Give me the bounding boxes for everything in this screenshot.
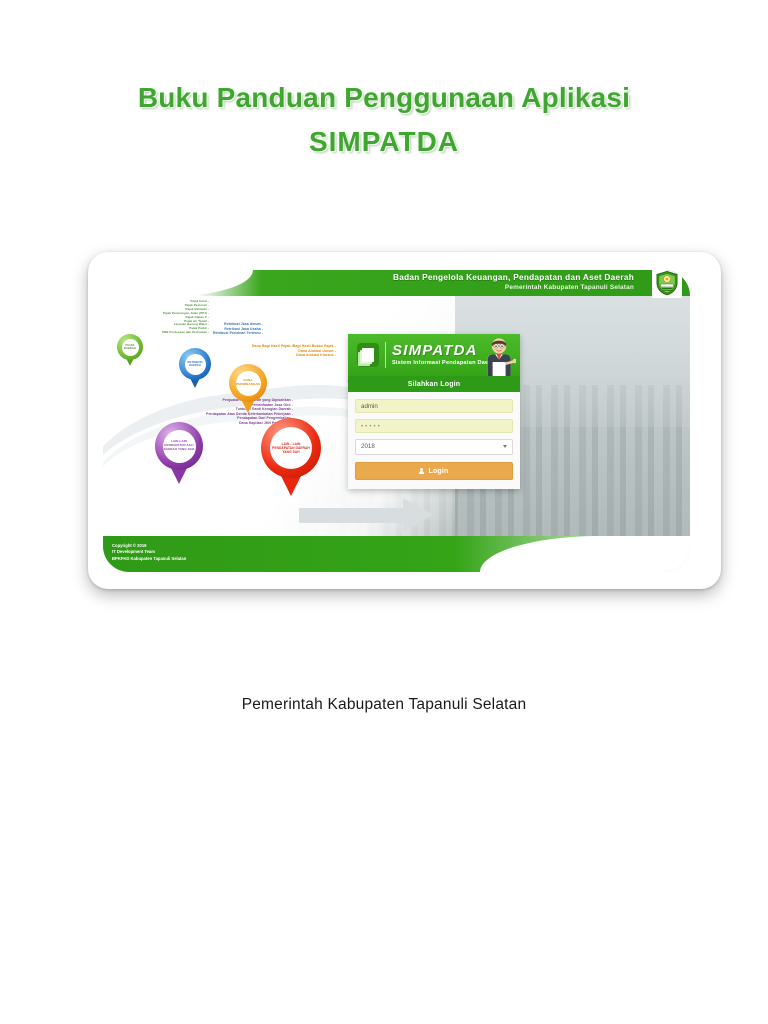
app-header-bar: Badan Pengelola Keuangan, Pendapatan dan… <box>103 270 690 296</box>
map-pin-pajak-daerah: PAJAK DAERAH <box>117 334 143 360</box>
cover-caption: Pemerintah Kabupaten Tapanuli Selatan <box>0 696 768 714</box>
document-pen-icon <box>357 343 379 367</box>
arrow-icon <box>299 502 449 528</box>
map-pin-dana-perimbangan: DANA PERIMBANGAN <box>229 364 267 402</box>
cover-page: Buku Panduan Penggunaan Aplikasi SIMPATD… <box>0 0 768 1024</box>
title-line-2: SIMPATDA <box>0 120 768 164</box>
user-icon <box>419 468 424 475</box>
tapanuli-selatan-crest-icon <box>652 270 682 298</box>
login-button-label: Login <box>428 468 448 475</box>
username-input[interactable] <box>355 399 513 413</box>
map-pin-lain-lain-pad: LAIN-LAIN PENDAPATAN ASLI DAERAH YANG SA… <box>155 422 203 470</box>
chevron-down-icon <box>503 445 507 448</box>
map-pin-retribusi-daerah: RETRIBUSI DAERAH <box>179 348 211 380</box>
app-footer-bar: Copyright © 2019 IT Development Team BPK… <box>103 536 690 572</box>
password-input[interactable] <box>355 419 513 433</box>
app-screenshot: Badan Pengelola Keuangan, Pendapatan dan… <box>103 270 690 572</box>
map-pin-label: LAIN-LAIN PENDAPATAN ASLI DAERAH YANG SA… <box>163 430 196 463</box>
title-line-1: Buku Panduan Penggunaan Aplikasi <box>138 82 630 113</box>
footer-org: BPKPAD Kabupaten Tapanuli Selatan <box>112 556 186 562</box>
login-heading: Silahkan Login <box>348 376 520 392</box>
year-select[interactable]: 2018 <box>355 439 513 455</box>
map-pin-lain-lain-pendapatan-daerah: LAIN - LAIN PENDAPATAN DAERAH YANG SAH <box>261 418 321 478</box>
app-header-title: Badan Pengelola Keuangan, Pendapatan dan… <box>393 272 634 283</box>
map-pin-label: LAIN - LAIN PENDAPATAN DAERAH YANG SAH <box>270 427 312 469</box>
map-pin-label: RETRIBUSI DAERAH <box>185 354 206 375</box>
login-brand-header: SIMPATDA Sistem Informasi Pendapatan Dae… <box>348 334 520 376</box>
page-title: Buku Panduan Penggunaan Aplikasi SIMPATD… <box>0 76 768 164</box>
screenshot-card: Badan Pengelola Keuangan, Pendapatan dan… <box>88 252 721 589</box>
app-header-subtitle: Pemerintah Kabupaten Tapanuli Selatan <box>393 283 634 292</box>
dana-perimbangan-list: Dana Bagi Hasil Pajak /Bagi Hasil Bukan … <box>221 344 336 358</box>
map-pin-label: DANA PERIMBANGAN <box>236 371 261 396</box>
year-select-value: 2018 <box>361 443 375 450</box>
login-button[interactable]: Login <box>355 462 513 480</box>
retribusi-daerah-list: Retribusi Jasa Umum - Retribusi Jasa Usa… <box>163 322 263 336</box>
login-panel: SIMPATDA Sistem Informasi Pendapatan Dae… <box>348 334 520 489</box>
mascot-icon <box>482 337 516 376</box>
map-pin-label: PAJAK DAERAH <box>122 339 139 356</box>
